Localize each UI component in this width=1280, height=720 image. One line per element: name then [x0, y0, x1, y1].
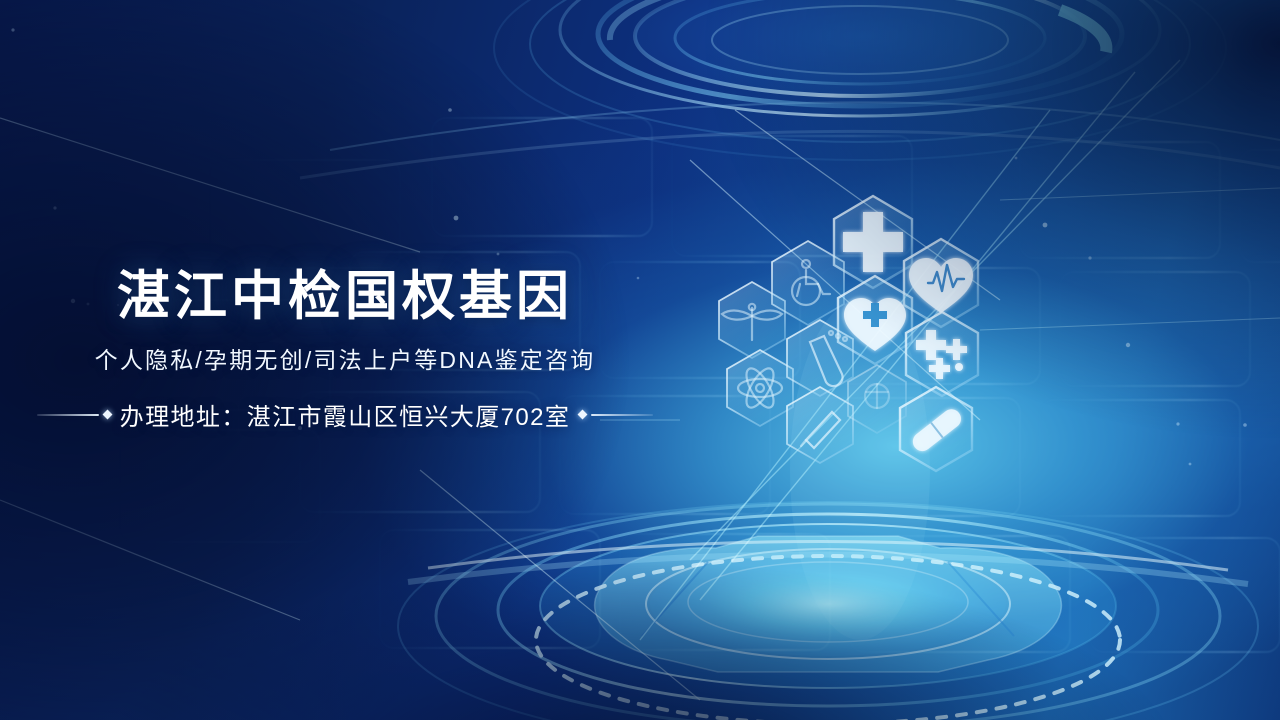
address-row: 办理地址：湛江市霞山区恒兴大厦702室: [0, 397, 690, 432]
left-rule-decoration: [37, 411, 111, 418]
right-rule-line: [591, 414, 653, 416]
right-diamond-icon: [578, 410, 588, 420]
address-text: 办理地址：湛江市霞山区恒兴大厦702室: [120, 397, 571, 432]
subtitle: 个人隐私/孕期无创/司法上户等DNA鉴定咨询: [0, 341, 690, 375]
left-rule-line: [37, 414, 99, 416]
promotional-banner: 湛江中检国权基因 个人隐私/孕期无创/司法上户等DNA鉴定咨询 办理地址：湛江市…: [0, 0, 1280, 720]
left-diamond-icon: [102, 410, 112, 420]
page-title: 湛江中检国权基因: [0, 268, 690, 325]
headline-block: 湛江中检国权基因 个人隐私/孕期无创/司法上户等DNA鉴定咨询 办理地址：湛江市…: [0, 268, 690, 432]
right-rule-decoration: [579, 411, 653, 418]
